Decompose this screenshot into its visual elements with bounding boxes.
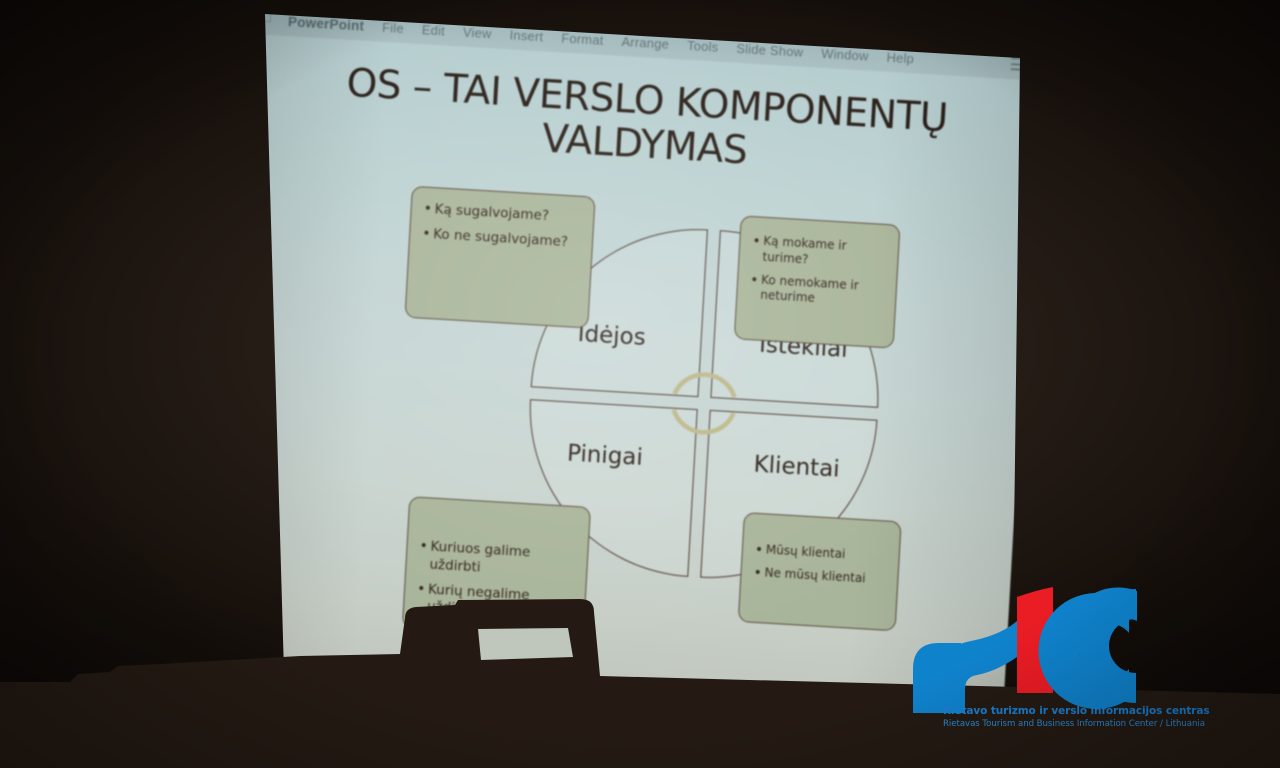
callout-money-item-1: Kuriuos galime uždirbti <box>418 538 576 583</box>
callout-clients-item-1: Mūsų klientai <box>754 542 887 566</box>
slide-title: OS – TAI VERSLO KOMPONENTŲ VALDYMAS <box>304 59 988 187</box>
callout-ideas-item-2: Ko ne sugalvojame? <box>422 225 581 252</box>
pic-logo: Rietavo turizmo ir verslo informacijos c… <box>905 585 1205 745</box>
callout-money-item-2: Kurių negalime uždirbtio <box>416 580 574 625</box>
presentation-room-photo:  PowerPoint File Edit View Insert Forma… <box>0 0 1280 768</box>
callout-money[interactable]: Kuriuos galime uždirbti Kurių negalime u… <box>402 496 591 639</box>
callout-ideas[interactable]: Ką sugalvojame? Ko ne sugalvojame? <box>404 186 595 329</box>
logo-tagline-en: Rietavas Tourism and Business Informatio… <box>943 719 1193 729</box>
quadrant-label-money: Pinigai <box>521 438 688 474</box>
callout-resources-item-1: Ką mokame ir turime? <box>751 233 887 273</box>
callout-resources[interactable]: Ką mokame ir turime? Ko nemokame ir netu… <box>734 215 901 348</box>
callout-clients[interactable]: Mūsų klientai Ne mūsų klientai <box>738 512 902 631</box>
pic-logo-mark <box>905 585 1205 715</box>
quadrant-label-clients: Klientai <box>713 449 880 485</box>
callout-ideas-item-1: Ką sugalvojame? <box>423 201 582 228</box>
callout-resources-item-2: Ko nemokame ir neturime <box>749 272 885 312</box>
callout-clients-item-2: Ne mūsų klientai <box>753 565 886 589</box>
logo-tagline-lt: Rietavo turizmo ir verslo informacijos c… <box>943 705 1193 717</box>
logo-tagline: Rietavo turizmo ir verslo informacijos c… <box>943 705 1193 729</box>
